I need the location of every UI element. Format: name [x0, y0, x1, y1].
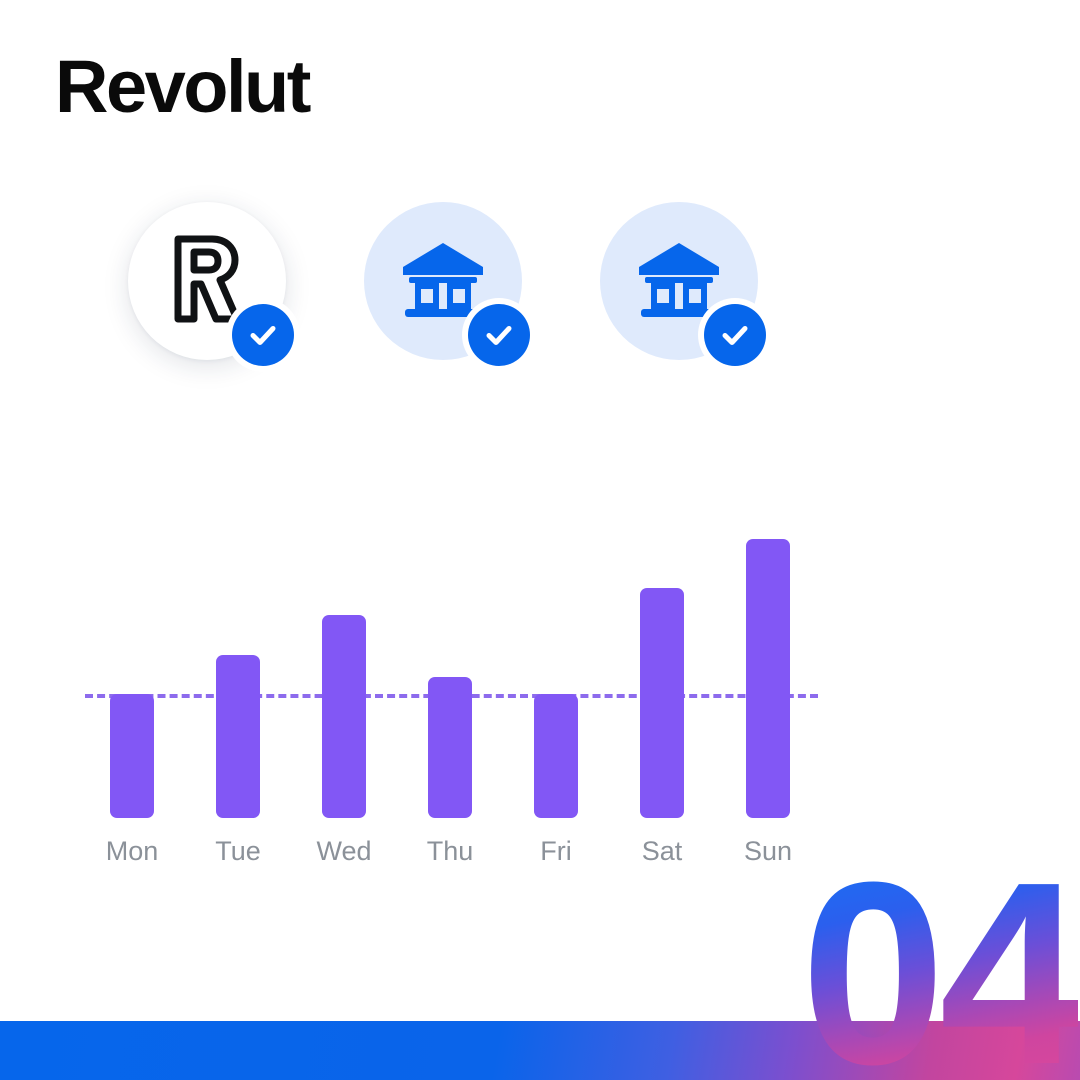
account-chip-bank-2[interactable]	[600, 202, 758, 360]
chart-bar	[534, 694, 578, 818]
chart-x-label: Mon	[72, 838, 192, 865]
chart-x-label: Thu	[390, 838, 510, 865]
check-icon	[717, 317, 753, 353]
account-chip-bank-1[interactable]	[364, 202, 522, 360]
step-number: 04	[801, 873, 1078, 1076]
chart-x-label: Fri	[496, 838, 616, 865]
chart-bar	[110, 694, 154, 818]
chart-bar	[216, 655, 260, 818]
chart-x-label: Tue	[178, 838, 298, 865]
chart-bar	[640, 588, 684, 818]
chart-plot-area	[0, 520, 1080, 820]
revolut-wordmark: Revolut	[55, 50, 309, 124]
check-icon	[481, 317, 517, 353]
verified-badge	[226, 298, 300, 372]
chart-x-label: Wed	[284, 838, 404, 865]
verified-badge	[462, 298, 536, 372]
verified-badge-fill	[704, 304, 766, 366]
verified-badge-fill	[468, 304, 530, 366]
chart-x-label: Sat	[602, 838, 722, 865]
account-chip-revolut[interactable]	[128, 202, 286, 360]
verified-badge	[698, 298, 772, 372]
slide-canvas: Revolut	[0, 0, 1080, 1080]
chart-bar	[322, 615, 366, 818]
check-icon	[245, 317, 281, 353]
chart-bar	[428, 677, 472, 818]
chart-bar	[746, 539, 790, 818]
linked-accounts-row	[0, 198, 1080, 398]
verified-badge-fill	[232, 304, 294, 366]
